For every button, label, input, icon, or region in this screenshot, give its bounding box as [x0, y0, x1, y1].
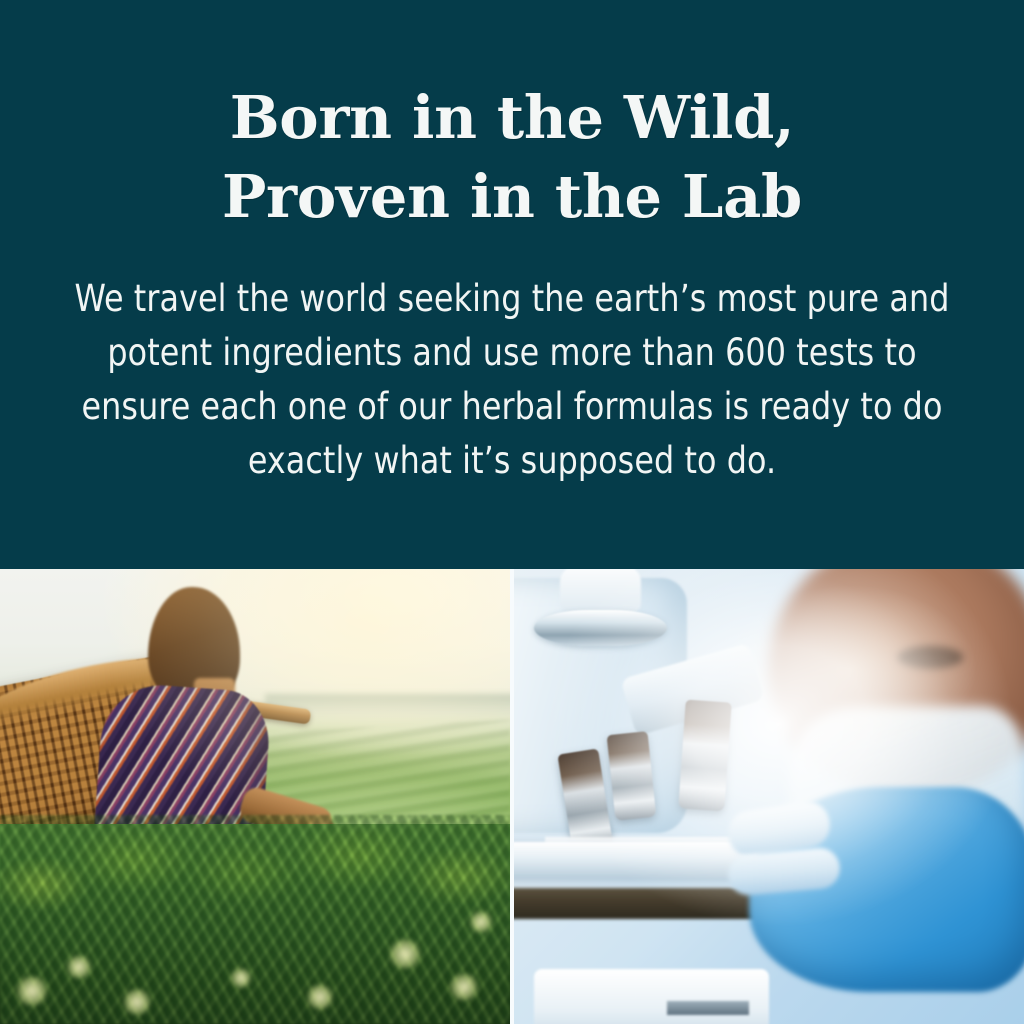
bokeh-highlight: [388, 939, 422, 969]
body-line-4: exactly what it’s supposed to do.: [71, 434, 953, 488]
microscope-eyepiece: [560, 569, 642, 615]
headline-panel: Born in the Wild, Proven in the Lab We t…: [0, 0, 1024, 569]
body-line-3: ensure each one of our herbal formulas i…: [71, 380, 953, 434]
body-line-1: We travel the world seeking the earth’s …: [71, 272, 953, 326]
tea-plantation-scene: [0, 569, 510, 1024]
microscope-base-clip: [667, 1001, 749, 1015]
headline-line-2: Proven in the Lab: [0, 157, 1024, 236]
page-title: Born in the Wild, Proven in the Lab: [0, 78, 1024, 236]
bokeh-highlight: [449, 973, 479, 1001]
bokeh-highlight: [66, 955, 92, 979]
tea-leaf-texture: [0, 815, 510, 1024]
microscope-collar: [534, 610, 667, 646]
microscope-objective-lens: [679, 699, 732, 811]
bokeh-highlight: [469, 911, 493, 933]
microscope-objective-lens: [606, 731, 656, 821]
tea-harvester-photo: [0, 569, 510, 1024]
bokeh-highlight: [230, 968, 252, 988]
scientist-eye: [897, 646, 963, 669]
body-line-2: potent ingredients and use more than 600…: [71, 326, 953, 380]
body-copy: We travel the world seeking the earth’s …: [71, 272, 953, 488]
microscope-base: [534, 969, 769, 1024]
lab-microscope-photo: [514, 569, 1024, 1024]
bokeh-highlight: [15, 976, 49, 1006]
laboratory-scene: [514, 569, 1024, 1024]
headline-line-1: Born in the Wild,: [0, 78, 1024, 157]
promo-poster: Born in the Wild, Proven in the Lab We t…: [0, 0, 1024, 1024]
photo-strip: [0, 569, 1024, 1024]
